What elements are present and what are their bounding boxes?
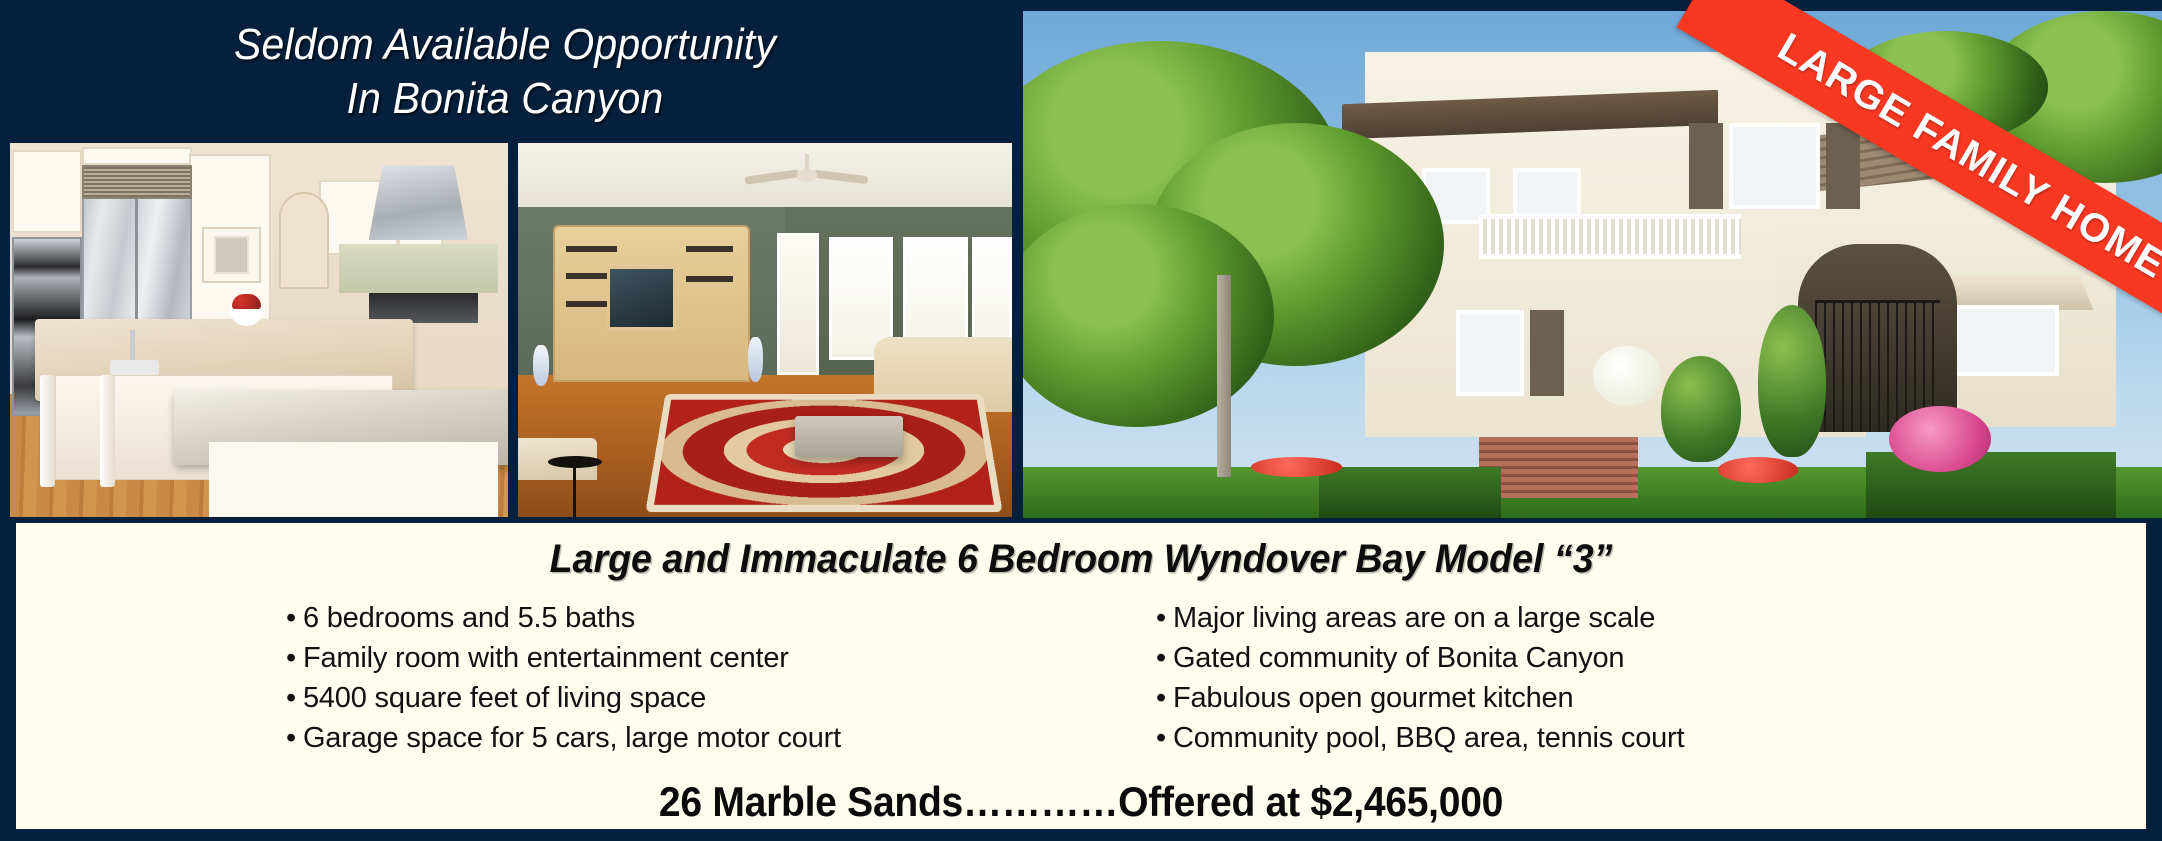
island-leg-2 bbox=[100, 375, 115, 487]
tree-trunk bbox=[1217, 275, 1232, 478]
kitchen-upper-cabinet bbox=[12, 150, 82, 232]
feature-text: Family room with entertainment center bbox=[303, 642, 789, 674]
real-estate-flyer: Seldom Available Opportunity In Bonita C… bbox=[0, 0, 2162, 841]
bookshelf-row-5 bbox=[686, 276, 732, 282]
lower-shutter bbox=[1530, 310, 1564, 396]
exterior-photo bbox=[1023, 11, 2162, 518]
bullet-icon: • bbox=[1156, 722, 1166, 754]
feature-text: Garage space for 5 cars, large motor cou… bbox=[303, 722, 841, 754]
list-item: •Garage space for 5 cars, large motor co… bbox=[286, 718, 1046, 758]
kitchen-cabinet-header bbox=[82, 147, 192, 166]
topiary-1 bbox=[1661, 356, 1741, 462]
apples bbox=[232, 294, 262, 309]
feature-text: Major living areas are on a large scale bbox=[1173, 602, 1655, 634]
bookshelf-row-4 bbox=[686, 246, 732, 252]
lower-window-left bbox=[1456, 310, 1524, 396]
bullet-icon: • bbox=[286, 642, 296, 674]
bullet-icon: • bbox=[1156, 682, 1166, 714]
feature-text: 5400 square feet of living space bbox=[303, 682, 706, 714]
listing-subtitle: Large and Immaculate 6 Bedroom Wyndover … bbox=[80, 523, 2082, 582]
island-leg-1 bbox=[40, 375, 55, 487]
kitchen-sink bbox=[110, 360, 160, 375]
ceiling-fan-hub bbox=[797, 169, 818, 182]
coffee-table bbox=[795, 416, 904, 457]
headline-line-2: In Bonita Canyon bbox=[347, 72, 664, 126]
pink-hydrangeas bbox=[1889, 406, 1992, 472]
kitchen-faucet bbox=[130, 330, 136, 364]
features-left-column: •6 bedrooms and 5.5 baths •Family room w… bbox=[286, 598, 1046, 758]
page-title: Seldom Available Opportunity In Bonita C… bbox=[35, 4, 974, 140]
white-roses bbox=[1593, 346, 1661, 407]
family-room-photo bbox=[518, 143, 1012, 517]
feature-text: 6 bedrooms and 5.5 baths bbox=[303, 602, 635, 634]
microwave bbox=[202, 227, 262, 283]
bullet-icon: • bbox=[286, 722, 296, 754]
feature-text: Fabulous open gourmet kitchen bbox=[1173, 682, 1573, 714]
balcony-railing bbox=[1479, 214, 1741, 260]
refrigerator-grille bbox=[82, 165, 192, 199]
list-item: •Family room with entertainment center bbox=[286, 638, 1046, 678]
bookshelf-row-1 bbox=[566, 246, 616, 252]
feature-text: Gated community of Bonita Canyon bbox=[1173, 642, 1624, 674]
feature-text: Community pool, BBQ area, tennis court bbox=[1173, 722, 1684, 754]
features-right-column: •Major living areas are on a large scale… bbox=[1156, 598, 1916, 758]
list-item: •Community pool, BBQ area, tennis court bbox=[1156, 718, 1916, 758]
kitchen-island-front-base bbox=[209, 442, 498, 517]
list-item: •Gated community of Bonita Canyon bbox=[1156, 638, 1916, 678]
kitchen-arched-cabinet bbox=[279, 192, 329, 289]
list-item: •5400 square feet of living space bbox=[286, 678, 1046, 718]
blue-vase-right bbox=[748, 337, 763, 382]
upper-shutter-left bbox=[1689, 123, 1723, 209]
red-flowers bbox=[1718, 457, 1798, 482]
french-door bbox=[777, 233, 819, 375]
headline-line-1: Seldom Available Opportunity bbox=[234, 18, 776, 72]
brick-steps bbox=[1479, 437, 1638, 498]
bullet-icon: • bbox=[286, 602, 296, 634]
bullet-icon: • bbox=[286, 682, 296, 714]
bullet-icon: • bbox=[1156, 602, 1166, 634]
list-item: •Fabulous open gourmet kitchen bbox=[1156, 678, 1916, 718]
topiary-2 bbox=[1758, 305, 1826, 457]
blue-vase-left bbox=[533, 345, 549, 386]
kitchen-photo bbox=[10, 143, 508, 517]
bullet-icon: • bbox=[1156, 642, 1166, 674]
list-item: •Major living areas are on a large scale bbox=[1156, 598, 1916, 638]
bar-stool bbox=[548, 442, 602, 517]
upper-shutter-right bbox=[1826, 123, 1860, 209]
range-hood bbox=[369, 165, 469, 240]
address-and-price: 26 Marble Sands…………Offered at $2,465,000 bbox=[91, 778, 2072, 826]
upper-window-1 bbox=[1729, 123, 1820, 209]
features-section: •6 bedrooms and 5.5 baths •Family room w… bbox=[16, 598, 2146, 758]
television bbox=[607, 266, 676, 330]
listing-info-panel: Large and Immaculate 6 Bedroom Wyndover … bbox=[16, 523, 2146, 829]
kitchen-backsplash bbox=[339, 244, 498, 293]
list-item: •6 bedrooms and 5.5 baths bbox=[286, 598, 1046, 638]
hedge-left bbox=[1319, 467, 1501, 518]
